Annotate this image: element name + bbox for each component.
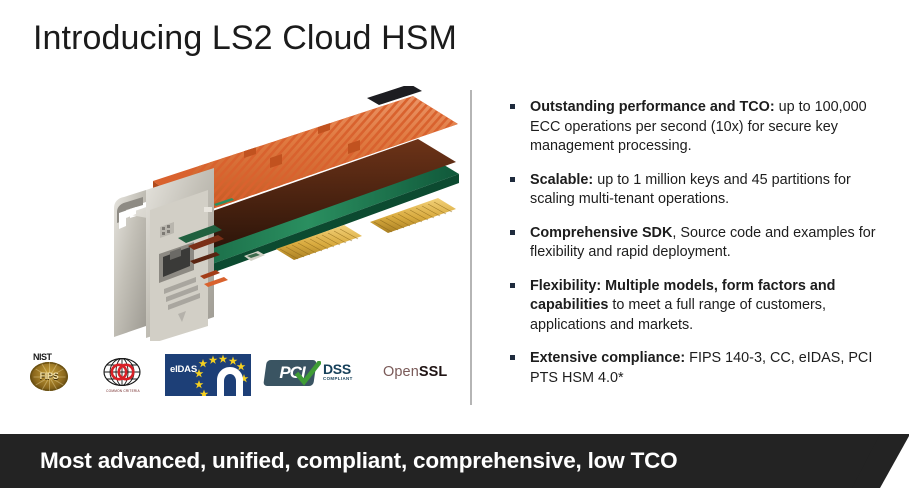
eidas-wordmark: eIDAS [170, 364, 197, 375]
openssl-open-text: Open [383, 364, 419, 380]
bottom-banner: Most advanced, unified, compliant, compr… [0, 434, 909, 488]
product-photo [18, 86, 466, 341]
common-criteria-label: COMMON CRITERIA [97, 389, 149, 393]
certification-logo-strip: NIST FIPS [25, 349, 455, 401]
banner-text: Most advanced, unified, compliant, compr… [40, 434, 677, 488]
list-item: Comprehensive SDK, Source code and examp… [508, 224, 896, 263]
eidas-logo: eIDAS [165, 349, 251, 401]
list-item: Extensive compliance: FIPS 140-3, CC, eI… [508, 349, 896, 388]
bullet-lead-text: Comprehensive SDK [530, 225, 672, 241]
openssl-ssl-text: SSL [419, 364, 448, 380]
io-faceplate [150, 190, 208, 341]
list-item: Flexibility: Multiple models, form facto… [508, 277, 896, 336]
list-item: Scalable: up to 1 million keys and 45 pa… [508, 171, 896, 210]
nist-fips-logo: NIST FIPS [25, 349, 81, 401]
openssl-logo: OpenSSL [383, 349, 463, 401]
bullet-square-icon [510, 355, 515, 360]
common-criteria-globe-icon [103, 357, 141, 387]
bullet-lead-text: Outstanding performance and TCO: [530, 99, 775, 115]
eidas-badge [165, 354, 251, 396]
bullet-lead-text: Extensive compliance: [530, 350, 685, 366]
pcie-card-illustration [18, 86, 466, 341]
eidas-stars-and-lock-icon [165, 354, 251, 396]
fips-wordmark: FIPS [30, 371, 68, 381]
bullet-square-icon [510, 104, 515, 109]
common-criteria-logo: COMMON CRITERIA [97, 349, 149, 401]
page-title: Introducing LS2 Cloud HSM [33, 16, 457, 60]
dss-wordmark: DSS [323, 361, 351, 377]
dss-compliant-label: COMPLIANT [323, 376, 353, 381]
padlock-icon [217, 367, 243, 396]
nist-wordmark: NIST [33, 352, 52, 362]
vertical-divider [470, 90, 472, 405]
bullet-square-icon [510, 230, 515, 235]
bullet-square-icon [510, 283, 515, 288]
green-check-icon [295, 361, 321, 387]
feature-bullet-list: Outstanding performance and TCO: up to 1… [508, 98, 896, 402]
pci-dss-logo: PCI DSS COMPLIANT [265, 349, 371, 401]
list-item: Outstanding performance and TCO: up to 1… [508, 98, 896, 157]
bullet-lead-text: Scalable: [530, 172, 593, 188]
openssl-wordmark: OpenSSL [383, 364, 447, 380]
bullet-square-icon [510, 177, 515, 182]
fips-seal-icon: FIPS [30, 362, 68, 391]
slide-root: Introducing LS2 Cloud HSM [0, 0, 909, 488]
